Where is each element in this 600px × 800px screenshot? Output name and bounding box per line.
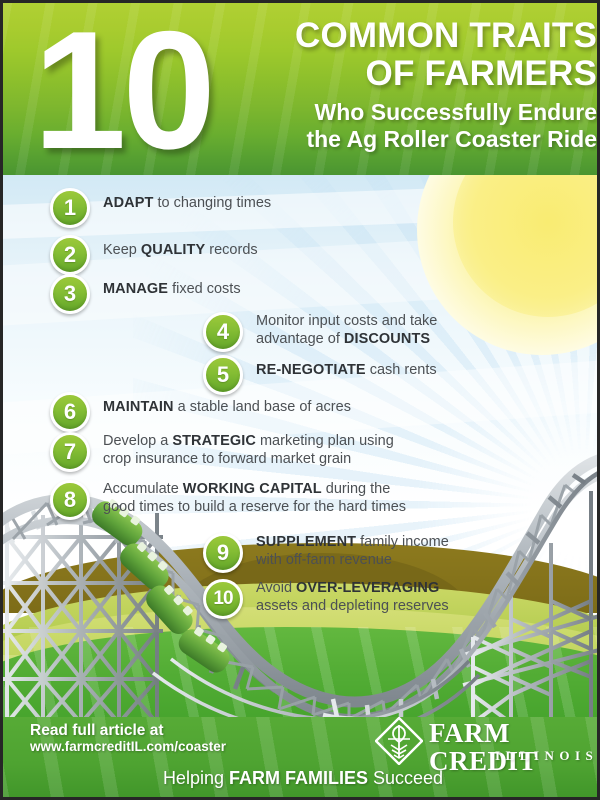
trait-post-9: family income xyxy=(356,534,449,550)
title-line-1: COMMON TRAITS xyxy=(225,17,597,55)
trait-text-6: MAINTAIN a stable land base of acres xyxy=(103,392,351,417)
tagline-post: Succeed xyxy=(368,768,443,788)
trait-item-9[interactable]: 9 SUPPLEMENT family income with off-farm… xyxy=(203,533,449,573)
trait-item-2[interactable]: 2 Keep QUALITY records xyxy=(50,235,258,275)
read-article-label: Read full article at xyxy=(30,722,164,740)
trait-line2-pre-4: advantage of xyxy=(256,331,344,347)
trait-badge-2: 2 xyxy=(50,235,90,275)
trait-pre-10: Avoid xyxy=(256,580,296,596)
trait-item-5[interactable]: 5 RE-NEGOTIATE cash rents xyxy=(203,355,437,395)
trait-line2-4: advantage of DISCOUNTS xyxy=(256,331,437,349)
trait-badge-10: 10 xyxy=(203,579,243,619)
farm-credit-logo[interactable]: FARM CREDIT ILLINOIS xyxy=(375,715,575,767)
trait-item-8[interactable]: 8 Accumulate WORKING CAPITAL during the … xyxy=(50,480,406,520)
trait-text-4: Monitor input costs and take advantage o… xyxy=(256,312,437,348)
trait-line2-10: assets and depleting reserves xyxy=(256,598,449,616)
footer-tagline: Helping FARM FAMILIES Succeed xyxy=(3,768,600,789)
trait-item-6[interactable]: 6 MAINTAIN a stable land base of acres xyxy=(50,392,351,432)
trait-item-7[interactable]: 7 Develop a STRATEGIC marketing plan usi… xyxy=(50,432,394,472)
trait-line2-7: crop insurance to forward market grain xyxy=(103,451,394,469)
trait-bold-5: RE-NEGOTIATE xyxy=(256,362,366,378)
tagline-pre: Helping xyxy=(163,768,229,788)
trait-bold-3: MANAGE xyxy=(103,281,168,297)
trait-pre-2: Keep xyxy=(103,242,141,258)
trait-text-1: ADAPT to changing times xyxy=(103,188,271,213)
trait-bold-4: DISCOUNTS xyxy=(344,331,430,347)
trait-bold-2: QUALITY xyxy=(141,242,205,258)
infographic-poster: 10 COMMON TRAITS OF FARMERS Who Successf… xyxy=(0,0,600,800)
trait-line1-7: Develop a STRATEGIC marketing plan using xyxy=(103,433,394,451)
tagline-bold: FARM FAMILIES xyxy=(229,768,368,788)
trait-line2-8: good times to build a reserve for the ha… xyxy=(103,499,406,517)
trait-pre-7: Develop a xyxy=(103,433,172,449)
trait-badge-6: 6 xyxy=(50,392,90,432)
trait-text-9: SUPPLEMENT family income with off-farm r… xyxy=(256,533,449,569)
trait-item-4[interactable]: 4 Monitor input costs and take advantage… xyxy=(203,312,437,352)
trait-post-7: marketing plan using xyxy=(256,433,394,449)
trait-text-2: Keep QUALITY records xyxy=(103,235,258,260)
trait-badge-9: 9 xyxy=(203,533,243,573)
title-line-2: OF FARMERS xyxy=(225,55,597,93)
trait-line2-9: with off-farm revenue xyxy=(256,552,449,570)
trait-post-1: to changing times xyxy=(153,195,271,211)
logo-state-label: ILLINOIS xyxy=(495,748,598,764)
trait-text-10: Avoid OVER-LEVERAGING assets and depleti… xyxy=(256,579,449,615)
trait-item-10[interactable]: 10 Avoid OVER-LEVERAGING assets and depl… xyxy=(203,579,449,619)
trait-badge-7: 7 xyxy=(50,432,90,472)
trait-post-3: fixed costs xyxy=(168,281,241,297)
trait-pre-8: Accumulate xyxy=(103,481,183,497)
header-text-block: COMMON TRAITS OF FARMERS Who Successfull… xyxy=(225,17,597,153)
trait-badge-4: 4 xyxy=(203,312,243,352)
trait-bold-6: MAINTAIN xyxy=(103,399,174,415)
trait-badge-1: 1 xyxy=(50,188,90,228)
trait-bold-1: ADAPT xyxy=(103,195,153,211)
trait-item-1[interactable]: 1 ADAPT to changing times xyxy=(50,188,271,228)
trait-bold-9: SUPPLEMENT xyxy=(256,534,356,550)
trait-post-6: a stable land base of acres xyxy=(174,399,351,415)
trait-badge-8: 8 xyxy=(50,480,90,520)
trait-badge-3: 3 xyxy=(50,274,90,314)
trait-text-7: Develop a STRATEGIC marketing plan using… xyxy=(103,432,394,468)
trait-bold-7: STRATEGIC xyxy=(172,433,256,449)
trait-text-5: RE-NEGOTIATE cash rents xyxy=(256,355,437,380)
trait-line1-8: Accumulate WORKING CAPITAL during the xyxy=(103,481,406,499)
logo-wordmark: FARM CREDIT xyxy=(429,719,575,775)
trait-post-8: during the xyxy=(322,481,391,497)
leaf-diamond-icon xyxy=(375,717,423,765)
trait-text-8: Accumulate WORKING CAPITAL during the go… xyxy=(103,480,406,516)
trait-post-5: cash rents xyxy=(366,362,437,378)
subtitle-line-2: the Ag Roller Coaster Ride xyxy=(225,126,597,153)
trait-line1-10: Avoid OVER-LEVERAGING xyxy=(256,580,449,598)
header-banner: 10 COMMON TRAITS OF FARMERS Who Successf… xyxy=(3,3,600,175)
trait-bold-8: WORKING CAPITAL xyxy=(183,481,322,497)
subtitle-line-1: Who Successfully Endure xyxy=(225,99,597,126)
trait-item-3[interactable]: 3 MANAGE fixed costs xyxy=(50,274,241,314)
trait-bold-10: OVER-LEVERAGING xyxy=(296,580,439,596)
trait-badge-5: 5 xyxy=(203,355,243,395)
trait-line1-4: Monitor input costs and take xyxy=(256,313,437,331)
big-number-10: 10 xyxy=(33,6,212,174)
read-article-url[interactable]: www.farmcreditIL.com/coaster xyxy=(30,739,226,754)
trait-line1-9: SUPPLEMENT family income xyxy=(256,534,449,552)
trait-post-2: records xyxy=(205,242,257,258)
trait-text-3: MANAGE fixed costs xyxy=(103,274,241,299)
